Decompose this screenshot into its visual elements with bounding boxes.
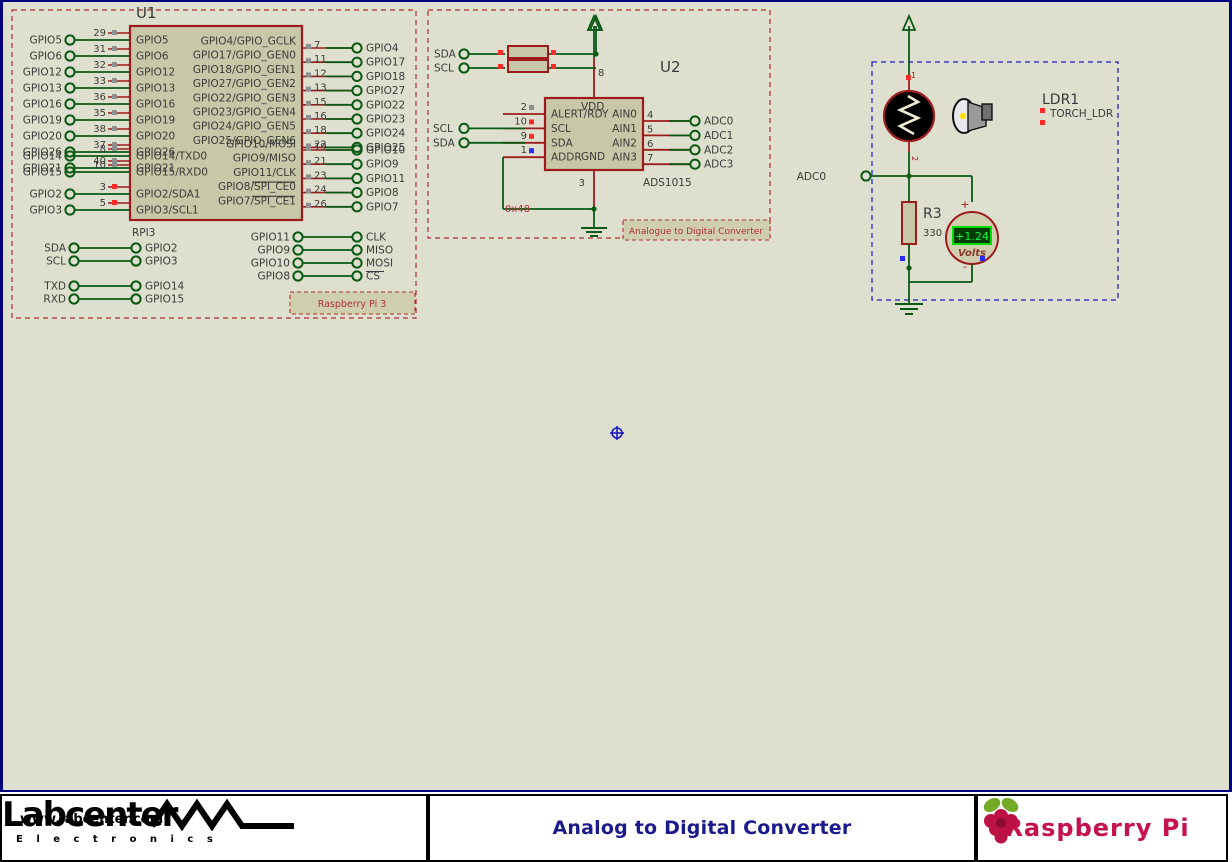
u1-left-pin-label: GPIO14/TXD0 — [136, 151, 207, 163]
u1-left-pin-marker — [112, 162, 117, 167]
u2-left-terminal-label: SDA — [433, 137, 456, 149]
u1-right-terminal-label: GPIO22 — [366, 99, 405, 111]
voltmeter-plus-label: + — [960, 198, 969, 211]
u1-right-pin-number: 11 — [314, 54, 327, 65]
u1-left-pin-number: 35 — [93, 108, 106, 119]
u1-net-dest-terminal[interactable] — [131, 256, 140, 265]
u1-left-terminal-label: GPIO20 — [23, 131, 62, 143]
u2-left-pin-label: ADDR — [551, 152, 582, 164]
u1-spi-source-terminal[interactable] — [293, 232, 302, 241]
u1-right-pin-label: GPIO27/GPIO_GEN2 — [193, 78, 296, 90]
raspberry-pi-cell: Raspberry Pi — [976, 794, 1228, 862]
u1-spi-source-label: GPIO9 — [257, 245, 290, 257]
u1-left-pin-number: 38 — [93, 124, 106, 135]
u1-net-dest-label: GPIO2 — [145, 243, 178, 255]
u1-left-pin-label: GPIO12 — [136, 67, 175, 79]
u1-right-pin-label: GPIO22/GPIO_GEN3 — [193, 92, 296, 104]
u1-right-terminal-label: GPIO11 — [366, 173, 405, 185]
adc-legend-label: Analogue to Digital Converter — [629, 227, 763, 237]
u2-vdd-pin-number: 8 — [598, 68, 604, 79]
u1-net-dest-label: GPIO3 — [145, 256, 178, 268]
u2-pullup-terminal-label: SCL — [434, 63, 454, 75]
u2-addr-junction — [591, 206, 596, 211]
u1-right-pin-marker — [306, 87, 311, 92]
u1-right-pin-marker — [306, 160, 311, 165]
u1-right-terminal-label: GPIO7 — [366, 201, 399, 213]
u1-right-pin-label: GPIO9/MISO — [233, 153, 296, 165]
u1-left-terminal-label: GPIO15 — [23, 167, 62, 179]
u2-right-pin-label: AIN1 — [612, 123, 637, 135]
u1-left-terminal-label: GPIO14 — [23, 151, 63, 163]
u1-spi-source-terminal[interactable] — [293, 245, 302, 254]
u1-right-terminal-label: GPIO17 — [366, 57, 405, 69]
u1-right-terminal[interactable] — [352, 174, 361, 183]
u2-left-terminal[interactable] — [459, 124, 468, 133]
u1-right-terminal[interactable] — [352, 58, 361, 67]
ldr-label-pin-1 — [1040, 108, 1045, 113]
u2-adc-terminal-label: ADC3 — [704, 159, 733, 171]
u2-left-pin-number: 2 — [521, 102, 527, 113]
u2-left-pin-label: SDA — [551, 137, 574, 149]
u1-left-pin-marker — [112, 30, 117, 35]
u1-right-terminal[interactable] — [352, 188, 361, 197]
u1-right-pin-label: GPIO24/GPIO_GEN5 — [193, 121, 296, 133]
u1-right-pin-number: 15 — [314, 97, 327, 108]
u1-left-terminal-label: GPIO13 — [23, 83, 62, 95]
schematic-canvas[interactable]: U1RPI3GPIO529GPIO5GPIO631GPIO6GPIO1232GP… — [0, 0, 1232, 862]
u1-left-pin-number: 3 — [100, 182, 106, 193]
u1-left-terminal-label: GPIO19 — [23, 115, 62, 127]
u1-right-pin-number: 23 — [314, 170, 327, 181]
labcenter-wordmark-icon: Labcenter — [2, 796, 302, 834]
sensor-adc-terminal[interactable] — [861, 171, 870, 180]
r3-reference: R3 — [923, 206, 942, 222]
r3-body[interactable] — [902, 202, 916, 244]
u2-left-pin-marker — [529, 134, 534, 139]
u1-device-name: RPI3 — [132, 227, 155, 239]
u2-adc-terminal-label: ADC1 — [704, 130, 733, 142]
u2-pullup-pin-marker — [551, 64, 556, 69]
u1-right-terminal-label: GPIO23 — [366, 114, 405, 126]
u1-net-dest-terminal[interactable] — [131, 294, 140, 303]
torch-lamp-icon — [953, 99, 992, 133]
u1-spi-dest-label: CLK — [366, 232, 387, 244]
u1-left-terminal-label: GPIO3 — [29, 205, 62, 217]
u1-right-terminal-label: GPIO4 — [366, 43, 399, 55]
u2-reference: U2 — [660, 58, 681, 76]
u2-pullup-pin-marker — [498, 50, 503, 55]
u1-left-pin-label: GPIO20 — [136, 131, 175, 143]
u1-spi-dest-label: MOSI — [366, 258, 393, 270]
u1-left-pin-label: GPIO5 — [136, 35, 169, 47]
u1-reference: U1 — [136, 4, 157, 22]
u1-right-pin-label: GPIO23/GPIO_GEN4 — [193, 107, 296, 119]
voltmeter-minus-label: - — [963, 260, 967, 273]
u1-right-pin-marker — [306, 58, 311, 63]
u1-right-terminal[interactable] — [352, 72, 361, 81]
u1-spi-dest-label: MISO — [366, 245, 393, 257]
u2-pullup-pin-marker — [551, 50, 556, 55]
u1-right-pin-number: 24 — [314, 185, 327, 196]
u1-left-pin-marker — [112, 78, 117, 83]
u1-right-terminal-label: GPIO18 — [366, 71, 405, 83]
u1-spi-source-label: GPIO10 — [251, 258, 290, 270]
u2-device-name: ADS1015 — [643, 177, 692, 189]
u1-spi-dest-terminal[interactable] — [352, 232, 361, 241]
u1-right-pin-label: GPIO17/GPIO_GEN0 — [193, 50, 296, 62]
u2-left-pin-marker — [529, 148, 534, 153]
u1-right-terminal-label: GPIO10 — [366, 145, 405, 157]
u1-left-pin-marker — [112, 62, 117, 67]
sheet-title-cell: Analog to Digital Converter — [428, 794, 976, 862]
u1-right-pin-marker — [306, 146, 311, 151]
u1-right-pin-label: GPIO11/CLK — [233, 167, 297, 179]
u2-adc-terminal[interactable] — [690, 131, 699, 140]
u1-right-pin-marker — [306, 44, 311, 49]
u1-right-pin-marker — [306, 129, 311, 134]
u1-left-terminal[interactable] — [65, 205, 74, 214]
u1-spi-dest-terminal[interactable] — [352, 245, 361, 254]
u1-left-terminal-label: GPIO6 — [29, 51, 62, 63]
u1-right-pin-label: GPIO4/GPIO_GCLK — [201, 36, 297, 48]
u1-right-pin-number: 26 — [314, 199, 327, 210]
u1-right-pin-number: 16 — [314, 111, 327, 122]
u1-net-source-label: SCL — [46, 256, 66, 268]
u1-left-terminal-label: GPIO16 — [23, 99, 63, 111]
u1-right-terminal[interactable] — [352, 202, 361, 211]
u1-left-terminal[interactable] — [65, 83, 74, 92]
u1-spi-source-terminal[interactable] — [293, 271, 302, 280]
u1-right-pin-label: GPIO7/SPI_CE1 — [218, 195, 296, 207]
u2-gnd-label: GND — [581, 151, 605, 163]
u1-left-pin-marker — [112, 110, 117, 115]
u2-pullup-terminal-label: SDA — [434, 49, 457, 61]
u2-right-pin-label: AIN3 — [612, 152, 637, 164]
u1-spi-source-label: GPIO8 — [257, 271, 290, 283]
u2-adc-terminal[interactable] — [690, 116, 699, 125]
u1-net-source-label: TXD — [43, 281, 66, 293]
sensor-adc-terminal-label: ADC0 — [797, 171, 826, 183]
ldr-pin-2-number: 2 — [910, 156, 919, 161]
ldr-reference-label: LDR1 — [1042, 92, 1079, 108]
u1-left-pin-label: GPIO13 — [136, 83, 175, 95]
u1-left-terminal-label: GPIO2 — [29, 189, 62, 201]
u1-right-pin-number: 21 — [314, 156, 327, 167]
r3-pin-marker — [900, 256, 905, 261]
u1-net-source-terminal[interactable] — [69, 294, 78, 303]
u1-right-pin-number: 19 — [314, 142, 327, 153]
u1-right-pin-marker — [306, 101, 311, 106]
u1-left-pin-number: 33 — [93, 76, 106, 87]
u1-left-pin-number: 8 — [100, 144, 106, 155]
u1-right-pin-number: 12 — [314, 68, 327, 79]
u1-net-source-terminal[interactable] — [69, 243, 78, 252]
u2-right-pin-number: 7 — [647, 153, 653, 164]
pullup-vcc-junction — [593, 51, 598, 56]
u1-right-terminal[interactable] — [352, 86, 361, 95]
u1-right-terminal[interactable] — [352, 160, 361, 169]
u2-left-pin-number: 9 — [521, 131, 527, 142]
u2-adc-terminal-label: ADC0 — [704, 116, 733, 128]
u1-left-terminal[interactable] — [65, 99, 74, 108]
u1-net-source-label: SDA — [44, 243, 67, 255]
u1-left-pin-marker — [112, 126, 117, 131]
svg-text:Labcenter: Labcenter — [2, 796, 179, 834]
u2-addr-label: 0x48 — [505, 204, 530, 215]
rpi-legend-label: Raspberry Pi 3 — [318, 299, 387, 310]
u2-pullup-terminal[interactable] — [459, 63, 468, 72]
ldr-pin-1-number: 1 — [911, 71, 916, 80]
u2-left-pin-number: 1 — [521, 145, 527, 156]
u1-left-terminal[interactable] — [65, 35, 74, 44]
u1-left-terminal[interactable] — [65, 131, 74, 140]
u2-left-pin-marker — [529, 105, 534, 110]
u1-right-pin-marker — [306, 72, 311, 77]
u2-left-pin-number: 10 — [514, 116, 527, 127]
sheet-title: Analog to Digital Converter — [553, 817, 852, 839]
u1-left-pin-marker — [112, 200, 117, 205]
u2-pullup-terminal[interactable] — [459, 49, 468, 58]
u1-left-pin-number: 32 — [93, 60, 106, 71]
u1-left-terminal-label: GPIO12 — [23, 67, 62, 79]
pullup-resistor-2[interactable] — [508, 60, 548, 72]
u1-net-source-terminal[interactable] — [69, 256, 78, 265]
u2-adc-terminal-label: ADC2 — [704, 144, 733, 156]
u1-left-pin-number: 5 — [100, 198, 106, 209]
u1-right-terminal[interactable] — [352, 100, 361, 109]
u2-gnd-pin-number: 3 — [579, 178, 585, 189]
u1-right-pin-number: 13 — [314, 83, 327, 94]
u2-left-pin-label: SCL — [551, 123, 571, 135]
u1-left-pin-number: 10 — [93, 160, 106, 171]
r3-value: 330 — [923, 228, 942, 239]
u1-left-pin-label: GPIO19 — [136, 115, 175, 127]
u2-adc-terminal[interactable] — [690, 145, 699, 154]
ldr-device-label: TORCH_LDR — [1049, 108, 1113, 120]
u1-right-pin-marker — [306, 174, 311, 179]
u1-right-terminal[interactable] — [352, 129, 361, 138]
u2-left-pin-label: ALERT/RDY — [551, 109, 609, 121]
u1-net-dest-terminal[interactable] — [131, 243, 140, 252]
u1-right-terminal-label: GPIO27 — [366, 85, 405, 97]
u1-right-terminal-label: GPIO24 — [366, 128, 406, 140]
u1-net-source-label: RXD — [43, 294, 66, 306]
voltmeter-reading: +1.24 — [955, 230, 989, 243]
u1-right-terminal[interactable] — [352, 114, 361, 123]
u1-left-pin-marker — [112, 146, 117, 151]
u2-right-pin-number: 4 — [647, 110, 653, 121]
u1-left-pin-marker — [112, 184, 117, 189]
u1-right-pin-number: 18 — [314, 125, 327, 136]
labcenter-logo: Labcenter www.labcenter.com E l e c t r … — [0, 794, 428, 862]
u1-left-terminal[interactable] — [65, 189, 74, 198]
u2-right-pin-number: 5 — [647, 124, 653, 135]
u1-left-pin-label: GPIO16 — [136, 99, 176, 111]
u1-spi-source-label: GPIO11 — [251, 232, 290, 244]
u1-net-dest-label: GPIO14 — [145, 281, 185, 293]
title-block: Labcenter www.labcenter.com E l e c t r … — [0, 790, 1232, 862]
u1-right-terminal[interactable] — [352, 43, 361, 52]
raspberry-pi-label: Raspberry Pi — [1004, 814, 1189, 842]
u1-left-pin-marker — [112, 46, 117, 51]
u1-right-pin-label: GPIO10/MOSI — [226, 139, 296, 151]
u2-adc-terminal[interactable] — [690, 160, 699, 169]
u1-left-pin-number: 29 — [93, 28, 106, 39]
labcenter-subtitle: E l e c t r o n i c s — [16, 834, 426, 845]
u1-spi-dest-terminal[interactable] — [352, 258, 361, 267]
u1-left-pin-label: GPIO15/RXD0 — [136, 167, 208, 179]
u1-left-pin-label: GPIO2/SDA1 — [136, 189, 200, 201]
u2-left-pin-marker — [529, 119, 534, 124]
ldr-label-pin-2 — [1040, 120, 1045, 125]
u1-right-pin-label: GPIO18/GPIO_GEN1 — [193, 64, 296, 76]
u1-net-source-terminal[interactable] — [69, 281, 78, 290]
u1-right-pin-marker — [306, 189, 311, 194]
u1-net-dest-label: GPIO15 — [145, 294, 184, 306]
u2-left-terminal[interactable] — [459, 138, 468, 147]
u1-left-terminal[interactable] — [65, 115, 74, 124]
u2-right-pin-label: AIN2 — [612, 137, 637, 149]
raspberry-pi-logo-icon — [978, 796, 1024, 848]
u1-left-pin-number: 36 — [93, 92, 106, 103]
u1-left-pin-number: 31 — [93, 44, 106, 55]
u1-right-terminal-label: GPIO9 — [366, 159, 399, 171]
ldr-body[interactable] — [884, 91, 934, 141]
u1-spi-source-terminal[interactable] — [293, 258, 302, 267]
u2-right-pin-label: AIN0 — [612, 109, 637, 121]
u1-right-pin-label: GPIO8/SPI_CE0 — [218, 181, 296, 193]
u1-left-terminal-label: GPIO5 — [29, 35, 62, 47]
u2-right-pin-number: 6 — [647, 139, 653, 150]
voltmeter-pin-marker — [980, 256, 985, 261]
u1-left-pin-label: GPIO3/SCL1 — [136, 205, 199, 217]
u1-right-pin-marker — [306, 115, 311, 120]
u1-left-pin-label: GPIO6 — [136, 51, 169, 63]
u1-spi-dest-label: CS — [366, 271, 380, 283]
u2-pullup-pin-marker — [498, 64, 503, 69]
u1-left-terminal[interactable] — [65, 67, 74, 76]
u1-right-pin-marker — [306, 203, 311, 208]
u2-left-terminal-label: SCL — [433, 123, 453, 135]
pullup-resistor-1[interactable] — [508, 46, 548, 58]
schematic-svg[interactable]: U1RPI3GPIO529GPIO5GPIO631GPIO6GPIO1232GP… — [0, 0, 1232, 790]
u1-right-pin-number: 7 — [314, 40, 320, 51]
u1-spi-dest-terminal[interactable] — [352, 271, 361, 280]
u1-left-pin-marker — [112, 94, 117, 99]
u1-left-terminal[interactable] — [65, 51, 74, 60]
u1-right-terminal-label: GPIO8 — [366, 187, 399, 199]
u1-net-dest-terminal[interactable] — [131, 281, 140, 290]
